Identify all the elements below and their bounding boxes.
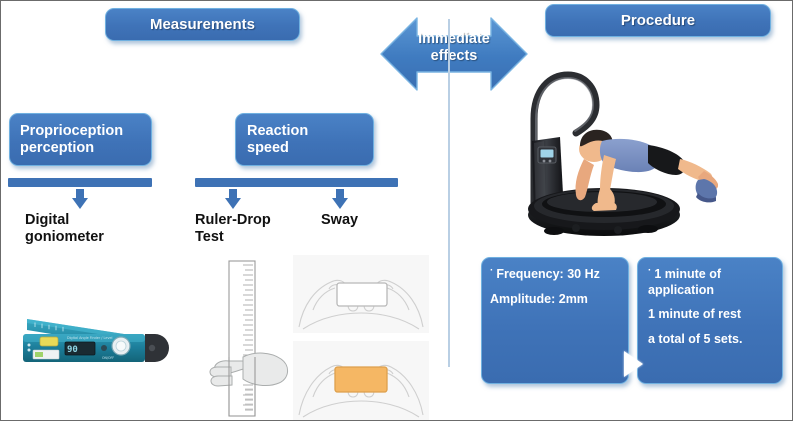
- measurements-header-label: Measurements: [150, 16, 255, 33]
- down-arrow-icon-sway: [332, 189, 348, 209]
- tool-label-digital-goniometer: Digital goniometer: [25, 212, 160, 246]
- procedure-header-label: Procedure: [621, 12, 695, 29]
- dosage-application: 1 minute of application: [648, 267, 721, 297]
- ruler-icon: [209, 257, 295, 420]
- connector-bar-reaction: [195, 178, 398, 187]
- measurements-header-box: Measurements: [105, 8, 300, 41]
- hands-tablet-icon: [293, 255, 429, 420]
- parameter-amplitude: Amplitude: 2mm: [490, 292, 588, 306]
- svg-text:ON/OFF: ON/OFF: [102, 356, 114, 360]
- tool-label-ruler-drop-test: Ruler-Drop Test: [195, 212, 290, 246]
- parameter-line: ·Frequency: 30 Hz: [490, 267, 622, 283]
- parameter-frequency: Frequency: 30 Hz: [496, 267, 600, 281]
- svg-text:Digital Angle Finder / Level: Digital Angle Finder / Level: [67, 336, 113, 340]
- category-proprioception-perception: Proprioception perception: [9, 113, 152, 166]
- down-arrow-icon-goniometer: [72, 189, 88, 209]
- bullet-icon: ·: [648, 265, 651, 276]
- dosage-line: ·1 minute of application: [648, 267, 776, 298]
- category-reaction-label: Reaction speed: [247, 123, 308, 157]
- section-divider: [448, 19, 450, 367]
- procedure-dosage-box: ·1 minute of application 1 minute of res…: [637, 257, 783, 384]
- dosage-line: 1 minute of rest: [648, 307, 776, 323]
- connector-bar-proprioception: [8, 178, 152, 187]
- tool-label-sway: Sway: [321, 212, 401, 229]
- vibration-platform-icon: [498, 63, 718, 241]
- dosage-line: a total of 5 sets.: [648, 332, 776, 348]
- dosage-rest: 1 minute of rest: [648, 307, 741, 321]
- category-reaction-speed: Reaction speed: [235, 113, 374, 166]
- play-triangle-icon: [624, 351, 643, 377]
- procedure-parameters-box: ·Frequency: 30 Hz Amplitude: 2mm: [481, 257, 629, 384]
- category-proprioception-label: Proprioception perception: [20, 123, 123, 157]
- diagram-canvas: Measurements Procedure Immediate effects…: [0, 0, 793, 421]
- bullet-icon: ·: [490, 265, 493, 276]
- dosage-sets: a total of 5 sets.: [648, 332, 742, 346]
- down-arrow-icon-ruler: [225, 189, 241, 209]
- procedure-header-box: Procedure: [545, 4, 771, 37]
- goniometer-icon: 90 Digital Angle Finder / Level ON/OFF: [9, 276, 179, 376]
- parameter-line: Amplitude: 2mm: [490, 292, 622, 308]
- svg-text:90: 90: [67, 345, 78, 355]
